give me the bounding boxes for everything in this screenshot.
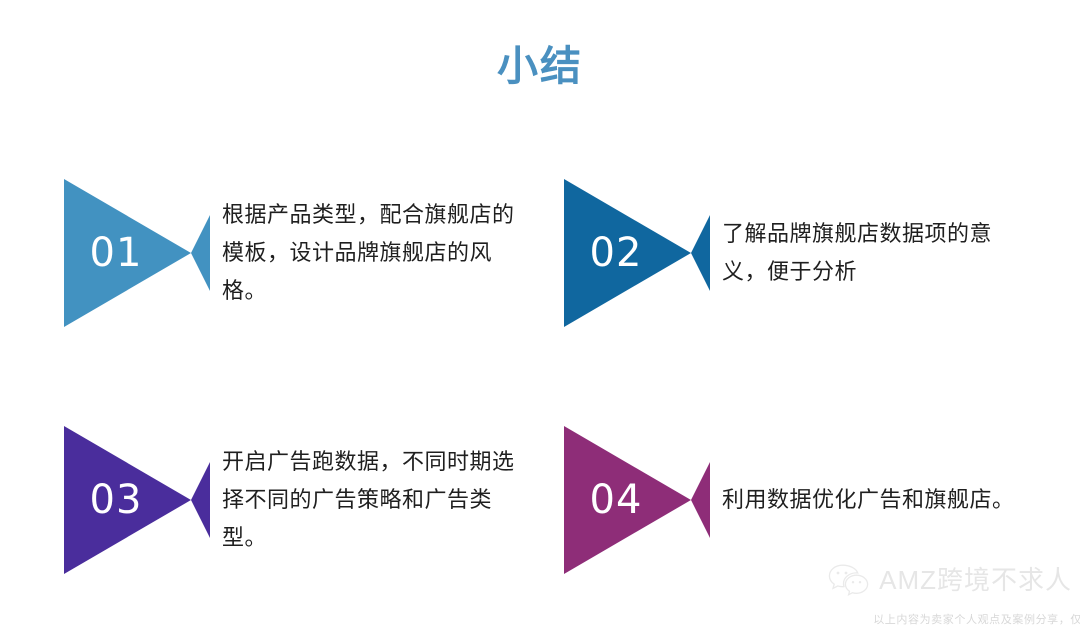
bowtie-shape-icon xyxy=(60,422,210,578)
summary-item-text: 了解品牌旗舰店数据项的意义，便于分析 xyxy=(722,175,1022,331)
disclaimer-text: 以上内容为卖家个人观点及案例分享，仅 xyxy=(872,611,1080,627)
bowtie-left-triangle xyxy=(64,179,191,327)
summary-item: 04 利用数据优化广告和旗舰店。 xyxy=(560,422,1060,582)
summary-item: 03 开启广告跑数据，不同时期选择不同的广告策略和广告类型。 xyxy=(60,422,560,582)
watermark-label: AMZ跨境不求人 xyxy=(879,560,1072,597)
bowtie-left-triangle xyxy=(564,426,691,574)
bowtie-badge: 02 xyxy=(560,175,710,331)
wechat-icon xyxy=(827,562,869,596)
bowtie-right-triangle xyxy=(691,462,710,538)
bowtie-shape-icon xyxy=(560,175,710,331)
bowtie-badge: 01 xyxy=(60,175,210,331)
bowtie-badge: 04 xyxy=(560,422,710,578)
bowtie-right-triangle xyxy=(191,215,210,291)
summary-item-text: 开启广告跑数据，不同时期选择不同的广告策略和广告类型。 xyxy=(222,422,522,578)
watermark: AMZ跨境不求人 xyxy=(827,560,1072,597)
summary-item: 01 根据产品类型，配合旗舰店的模板，设计品牌旗舰店的风格。 xyxy=(60,175,560,335)
bowtie-right-triangle xyxy=(191,462,210,538)
bowtie-badge: 03 xyxy=(60,422,210,578)
summary-item-text: 根据产品类型，配合旗舰店的模板，设计品牌旗舰店的风格。 xyxy=(222,175,522,331)
summary-item: 02 了解品牌旗舰店数据项的意义，便于分析 xyxy=(560,175,1060,335)
bowtie-right-triangle xyxy=(691,215,710,291)
summary-items-grid: 01 根据产品类型，配合旗舰店的模板，设计品牌旗舰店的风格。 02 了解品牌旗舰… xyxy=(0,170,1080,600)
bowtie-shape-icon xyxy=(560,422,710,578)
page-title: 小结 xyxy=(0,44,1080,89)
bowtie-left-triangle xyxy=(564,179,691,327)
bowtie-shape-icon xyxy=(60,175,210,331)
summary-item-text: 利用数据优化广告和旗舰店。 xyxy=(722,422,1022,578)
bowtie-left-triangle xyxy=(64,426,191,574)
